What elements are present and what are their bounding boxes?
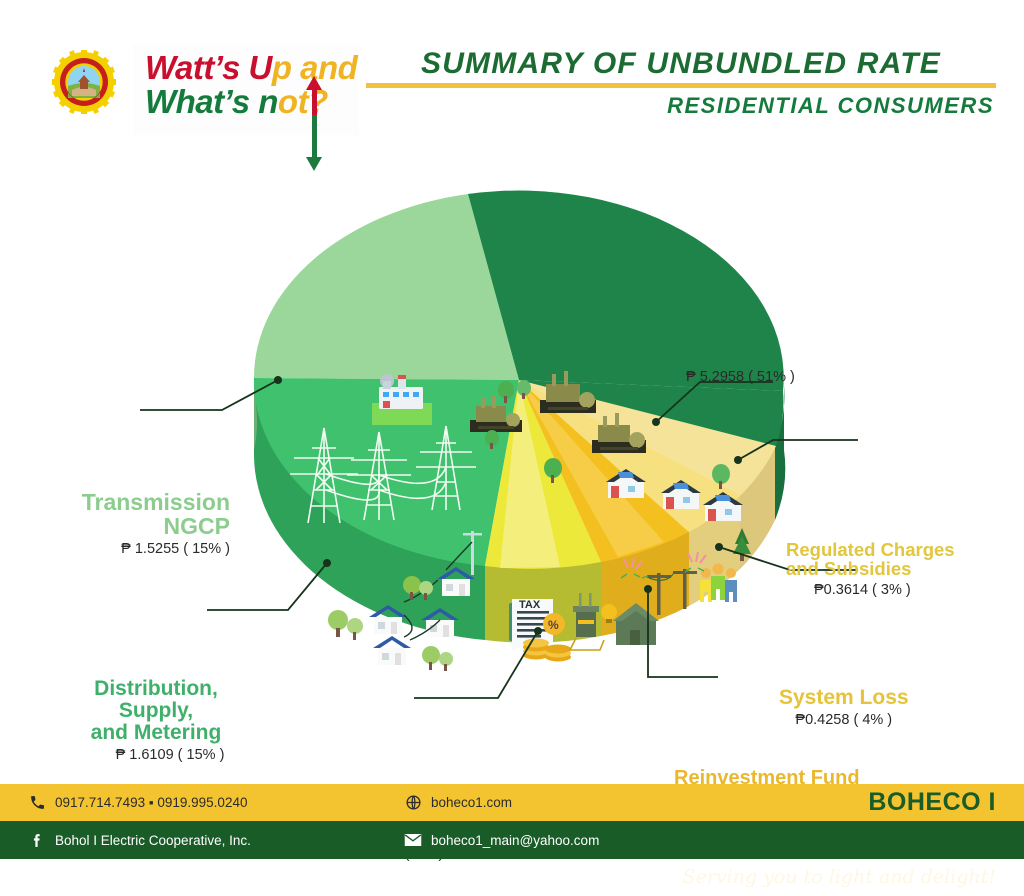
- footer-facebook[interactable]: Bohol I Electric Cooperative, Inc.: [28, 821, 251, 859]
- callout-system-loss: System Loss ₱0.4258 ( 4% ): [779, 687, 909, 728]
- callout-distribution: Distribution, Supply, and Metering ₱ 1.6…: [52, 678, 260, 763]
- callout-transmission-value: ₱ 1.5255 ( 15% ): [18, 541, 230, 557]
- footer-phone-text: 0917.714.7493 ▪ 0919.995.0240: [55, 795, 247, 810]
- arrow-up-stem: [312, 89, 317, 115]
- campaign-logo: Watt’s Up and What’s not?: [133, 43, 359, 135]
- people-group-icon: [700, 564, 737, 603]
- title-block: SUMMARY OF UNBUNDLED RATE RESIDENTIAL CO…: [366, 48, 996, 119]
- facebook-icon: [28, 831, 46, 849]
- title-divider: [366, 83, 996, 88]
- callout-system-loss-value: ₱0.4258 ( 4% ): [779, 712, 909, 728]
- callout-transmission-label: Transmission NGCP: [18, 490, 230, 538]
- callout-system-loss-label: System Loss: [779, 687, 909, 709]
- footer: 0917.714.7493 ▪ 0919.995.0240 boheco1.co…: [0, 784, 1024, 859]
- callout-regulated-label: Regulated Charges and Subsidies: [786, 540, 955, 579]
- infographic-page: Watt’s Up and What’s not? SUMMARY OF UNB…: [0, 0, 1024, 859]
- page-subtitle: RESIDENTIAL CONSUMERS: [366, 93, 996, 119]
- tagline: Serving you to light and delight!: [683, 858, 996, 896]
- mail-icon: [404, 831, 422, 849]
- footer-phone[interactable]: 0917.714.7493 ▪ 0919.995.0240: [28, 784, 247, 821]
- page-title: SUMMARY OF UNBUNDLED RATE: [366, 48, 996, 80]
- globe-icon: [404, 794, 422, 812]
- campaign-line-2: What’s not?: [145, 83, 328, 121]
- boheco-seal-icon: [52, 50, 116, 114]
- callout-generation-value: ₱ 5.2958 ( 51% ): [686, 369, 795, 385]
- callout-distribution-value: ₱ 1.6109 ( 15% ): [52, 747, 260, 763]
- callout-regulated: Regulated Charges and Subsidies ₱0.3614 …: [786, 540, 955, 598]
- callout-transmission: Transmission NGCP ₱ 1.5255 ( 15% ): [18, 490, 230, 557]
- footer-website[interactable]: boheco1.com: [404, 784, 512, 821]
- leader-distribution: [207, 563, 327, 610]
- callout-generation: Generation ₱ 5.2958 ( 51% ): [638, 340, 795, 385]
- footer-facebook-text: Bohol I Electric Cooperative, Inc.: [55, 833, 251, 848]
- footer-email[interactable]: boheco1_main@yahoo.com: [404, 821, 599, 859]
- callout-distribution-label: Distribution, Supply, and Metering: [52, 678, 260, 744]
- coins-icon: [523, 639, 571, 662]
- svg-text:TAX: TAX: [519, 599, 541, 611]
- callout-generation-label: Generation: [638, 340, 795, 366]
- footer-top-bar: 0917.714.7493 ▪ 0919.995.0240 boheco1.co…: [0, 784, 1024, 821]
- svg-text:%: %: [548, 618, 559, 632]
- footer-website-text: boheco1.com: [431, 795, 512, 810]
- brand-name: BOHECO I: [868, 784, 996, 821]
- callout-regulated-value: ₱0.3614 ( 3% ): [814, 582, 955, 598]
- footer-email-text: boheco1_main@yahoo.com: [431, 833, 599, 848]
- campaign-line-1: Watt’s Up and: [145, 49, 357, 87]
- pie-chart: TAX %: [0, 150, 1024, 780]
- header: Watt’s Up and What’s not? SUMMARY OF UNB…: [0, 0, 1024, 150]
- arrow-up-icon: [306, 76, 322, 90]
- footer-bottom-bar: Bohol I Electric Cooperative, Inc. bohec…: [0, 821, 1024, 859]
- phone-icon: [28, 794, 46, 812]
